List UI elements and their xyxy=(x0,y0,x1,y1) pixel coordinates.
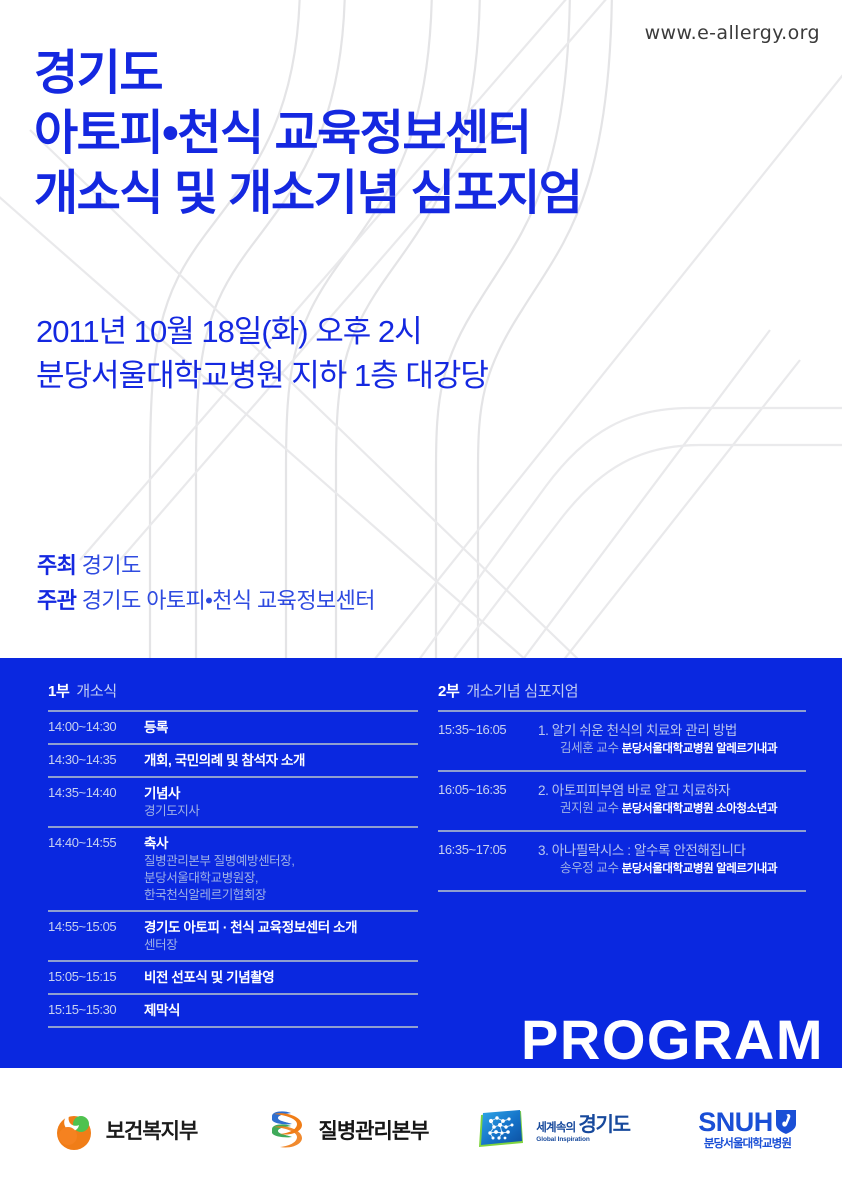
schedule-body: 개회, 국민의례 및 참석자 소개 xyxy=(144,751,418,770)
host-label-1: 주관 xyxy=(37,588,76,613)
symposium-affiliation: 분당서울대학교병원 소아청소년과 xyxy=(622,803,778,815)
schedule-time: 14:40~14:55 xyxy=(48,834,144,904)
snuh-label: 분당서울대학교병원 xyxy=(704,1139,791,1151)
symposium-title: 3. 아나필락시스 : 알수록 안전해집니다 xyxy=(538,841,806,860)
symposium-time: 16:35~17:05 xyxy=(438,841,538,878)
schedule-subtitle: 한국천식알레르기협회장 xyxy=(144,887,418,904)
host-row-organizer: 주최 경기도 xyxy=(37,548,757,583)
symposium-speaker-line: 김세훈 교수 분당서울대학교병원 알레르기내과 xyxy=(538,740,806,758)
part2-schedule-list: 15:35~16:051. 알기 쉬운 천식의 치료와 관리 방법김세훈 교수 … xyxy=(438,710,806,892)
schedule-body: 기념사경기도지사 xyxy=(144,784,418,820)
part2-number: 2부 xyxy=(438,683,460,700)
schedule-body: 제막식 xyxy=(144,1001,418,1020)
schedule-row: 14:40~14:55축사질병관리본부 질병예방센터장,분당서울대학교병원장,한… xyxy=(48,826,418,910)
title-line-2: 아토피•천식 교육정보센터 xyxy=(34,104,824,164)
schedule-row: 15:05~15:15비전 선포식 및 기념촬영 xyxy=(48,960,418,993)
snuh-shield-icon xyxy=(775,1109,797,1135)
symposium-speaker: 김세훈 교수 xyxy=(560,741,622,755)
logo-label-mohw: 보건복지부 xyxy=(106,1115,198,1145)
part1-name: 개소식 xyxy=(76,683,117,700)
schedule-row: 14:00~14:30등록 xyxy=(48,710,418,743)
schedule-title: 기념사 xyxy=(144,784,418,803)
logo-snuh: SNUH 분당서울대학교병원 xyxy=(655,1100,840,1160)
schedule-title: 경기도 아토피 · 천식 교육정보센터 소개 xyxy=(144,918,418,937)
program-part2-column: 2부 개소기념 심포지엄 15:35~16:051. 알기 쉬운 천식의 치료와… xyxy=(438,680,806,892)
schedule-title: 개회, 국민의례 및 참석자 소개 xyxy=(144,751,418,770)
schedule-time: 14:35~14:40 xyxy=(48,784,144,820)
schedule-time: 15:05~15:15 xyxy=(48,968,144,987)
symposium-affiliation: 분당서울대학교병원 알레르기내과 xyxy=(622,863,778,875)
logo-label-kcdc: 질병관리본부 xyxy=(319,1115,429,1145)
schedule-subtitle: 분당서울대학교병원장, xyxy=(144,870,418,887)
symposium-title: 1. 알기 쉬운 천식의 치료와 관리 방법 xyxy=(538,721,806,740)
symposium-time: 15:35~16:05 xyxy=(438,721,538,758)
title-line-1: 경기도 xyxy=(34,44,824,104)
gyeonggi-logo-text: 세계속의 경기도 Global Inspiration xyxy=(536,1115,629,1144)
host-organizer-block: 주최 경기도 주관 경기도 아토피•천식 교육정보센터 xyxy=(37,548,757,618)
event-details: 2011년 10월 18일(화) 오후 2시 분당서울대학교병원 지하 1층 대… xyxy=(36,310,736,398)
program-part1-column: 1부 개소식 14:00~14:30등록14:30~14:35개회, 국민의례 … xyxy=(48,680,418,1028)
title-line-3: 개소식 및 개소기념 심포지엄 xyxy=(34,164,824,224)
host-row-manager: 주관 경기도 아토피•천식 교육정보센터 xyxy=(37,583,757,618)
schedule-subtitle: 질병관리본부 질병예방센터장, xyxy=(144,853,418,870)
schedule-row: 15:15~15:30제막식 xyxy=(48,993,418,1028)
schedule-time: 14:00~14:30 xyxy=(48,718,144,737)
schedule-body: 축사질병관리본부 질병예방센터장,분당서울대학교병원장,한국천식알레르기협회장 xyxy=(144,834,418,904)
kcdc-symbol-icon xyxy=(262,1107,310,1153)
symposium-row: 16:35~17:053. 아나필락시스 : 알수록 안전해집니다송우정 교수 … xyxy=(438,830,806,892)
snuh-logo-text: SNUH 분당서울대학교병원 xyxy=(698,1109,797,1151)
symposium-row: 15:35~16:051. 알기 쉬운 천식의 치료와 관리 방법김세훈 교수 … xyxy=(438,710,806,770)
schedule-row: 14:55~15:05경기도 아토피 · 천식 교육정보센터 소개센터장 xyxy=(48,910,418,960)
symposium-body: 2. 아토피피부염 바로 알고 치료하자권지원 교수 분당서울대학교병원 소아청… xyxy=(538,781,806,818)
schedule-title: 축사 xyxy=(144,834,418,853)
mohw-symbol-icon xyxy=(51,1107,97,1153)
schedule-time: 14:30~14:35 xyxy=(48,751,144,770)
schedule-body: 등록 xyxy=(144,718,418,737)
footer-logo-strip: 보건복지부 질병관리본부 xyxy=(0,1068,842,1191)
logo-ministry-of-health-welfare: 보건복지부 xyxy=(8,1100,240,1160)
symposium-row: 16:05~16:352. 아토피피부염 바로 알고 치료하자권지원 교수 분당… xyxy=(438,770,806,830)
schedule-subtitle: 센터장 xyxy=(144,937,418,954)
host-label-0: 주최 xyxy=(37,553,76,578)
part2-name: 개소기념 심포지엄 xyxy=(466,683,578,700)
page-title: 경기도 아토피•천식 교육정보센터 개소식 및 개소기념 심포지엄 xyxy=(34,44,824,224)
gyeonggi-name: 경기도 xyxy=(578,1115,629,1135)
program-panel: 1부 개소식 14:00~14:30등록14:30~14:35개회, 국민의례 … xyxy=(0,658,842,1068)
symposium-speaker: 송우정 교수 xyxy=(560,861,622,875)
symposium-affiliation: 분당서울대학교병원 알레르기내과 xyxy=(622,743,778,755)
gyeonggi-tagline: Global Inspiration xyxy=(536,1137,629,1144)
schedule-time: 14:55~15:05 xyxy=(48,918,144,954)
website-url: www.e-allergy.org xyxy=(645,22,820,44)
snuh-acronym: SNUH xyxy=(698,1109,773,1136)
schedule-title: 제막식 xyxy=(144,1001,418,1020)
symposium-speaker: 권지원 교수 xyxy=(560,801,622,815)
symposium-body: 3. 아나필락시스 : 알수록 안전해집니다송우정 교수 분당서울대학교병원 알… xyxy=(538,841,806,878)
schedule-body: 비전 선포식 및 기념촬영 xyxy=(144,968,418,987)
part1-number: 1부 xyxy=(48,683,70,700)
event-venue: 분당서울대학교병원 지하 1층 대강당 xyxy=(36,354,736,398)
schedule-body: 경기도 아토피 · 천식 교육정보센터 소개센터장 xyxy=(144,918,418,954)
schedule-row: 14:35~14:40기념사경기도지사 xyxy=(48,776,418,826)
symposium-speaker-line: 권지원 교수 분당서울대학교병원 소아청소년과 xyxy=(538,800,806,818)
symposium-title: 2. 아토피피부염 바로 알고 치료하자 xyxy=(538,781,806,800)
logo-gyeonggi-province: 세계속의 경기도 Global Inspiration xyxy=(450,1100,655,1160)
schedule-title: 비전 선포식 및 기념촬영 xyxy=(144,968,418,987)
host-value-0: 경기도 xyxy=(82,553,141,578)
part1-schedule-list: 14:00~14:30등록14:30~14:35개회, 국민의례 및 참석자 소… xyxy=(48,710,418,1028)
schedule-title: 등록 xyxy=(144,718,418,737)
symposium-body: 1. 알기 쉬운 천식의 치료와 관리 방법김세훈 교수 분당서울대학교병원 알… xyxy=(538,721,806,758)
logo-korea-cdc: 질병관리본부 xyxy=(240,1100,450,1160)
gyeonggi-prefix: 세계속의 xyxy=(536,1123,575,1135)
schedule-subtitle: 경기도지사 xyxy=(144,803,418,820)
schedule-time: 15:15~15:30 xyxy=(48,1001,144,1020)
poster-root: www.e-allergy.org 경기도 아토피•천식 교육정보센터 개소식 … xyxy=(0,0,842,1191)
symposium-speaker-line: 송우정 교수 분당서울대학교병원 알레르기내과 xyxy=(538,860,806,878)
schedule-row: 14:30~14:35개회, 국민의례 및 참석자 소개 xyxy=(48,743,418,776)
part2-heading: 2부 개소기념 심포지엄 xyxy=(438,680,806,701)
symposium-time: 16:05~16:35 xyxy=(438,781,538,818)
program-wordmark: PROGRAM xyxy=(521,1012,824,1068)
event-datetime: 2011년 10월 18일(화) 오후 2시 xyxy=(36,310,736,354)
gyeonggi-symbol-icon xyxy=(475,1107,527,1153)
part1-heading: 1부 개소식 xyxy=(48,680,418,701)
host-value-1: 경기도 아토피•천식 교육정보센터 xyxy=(82,588,375,613)
